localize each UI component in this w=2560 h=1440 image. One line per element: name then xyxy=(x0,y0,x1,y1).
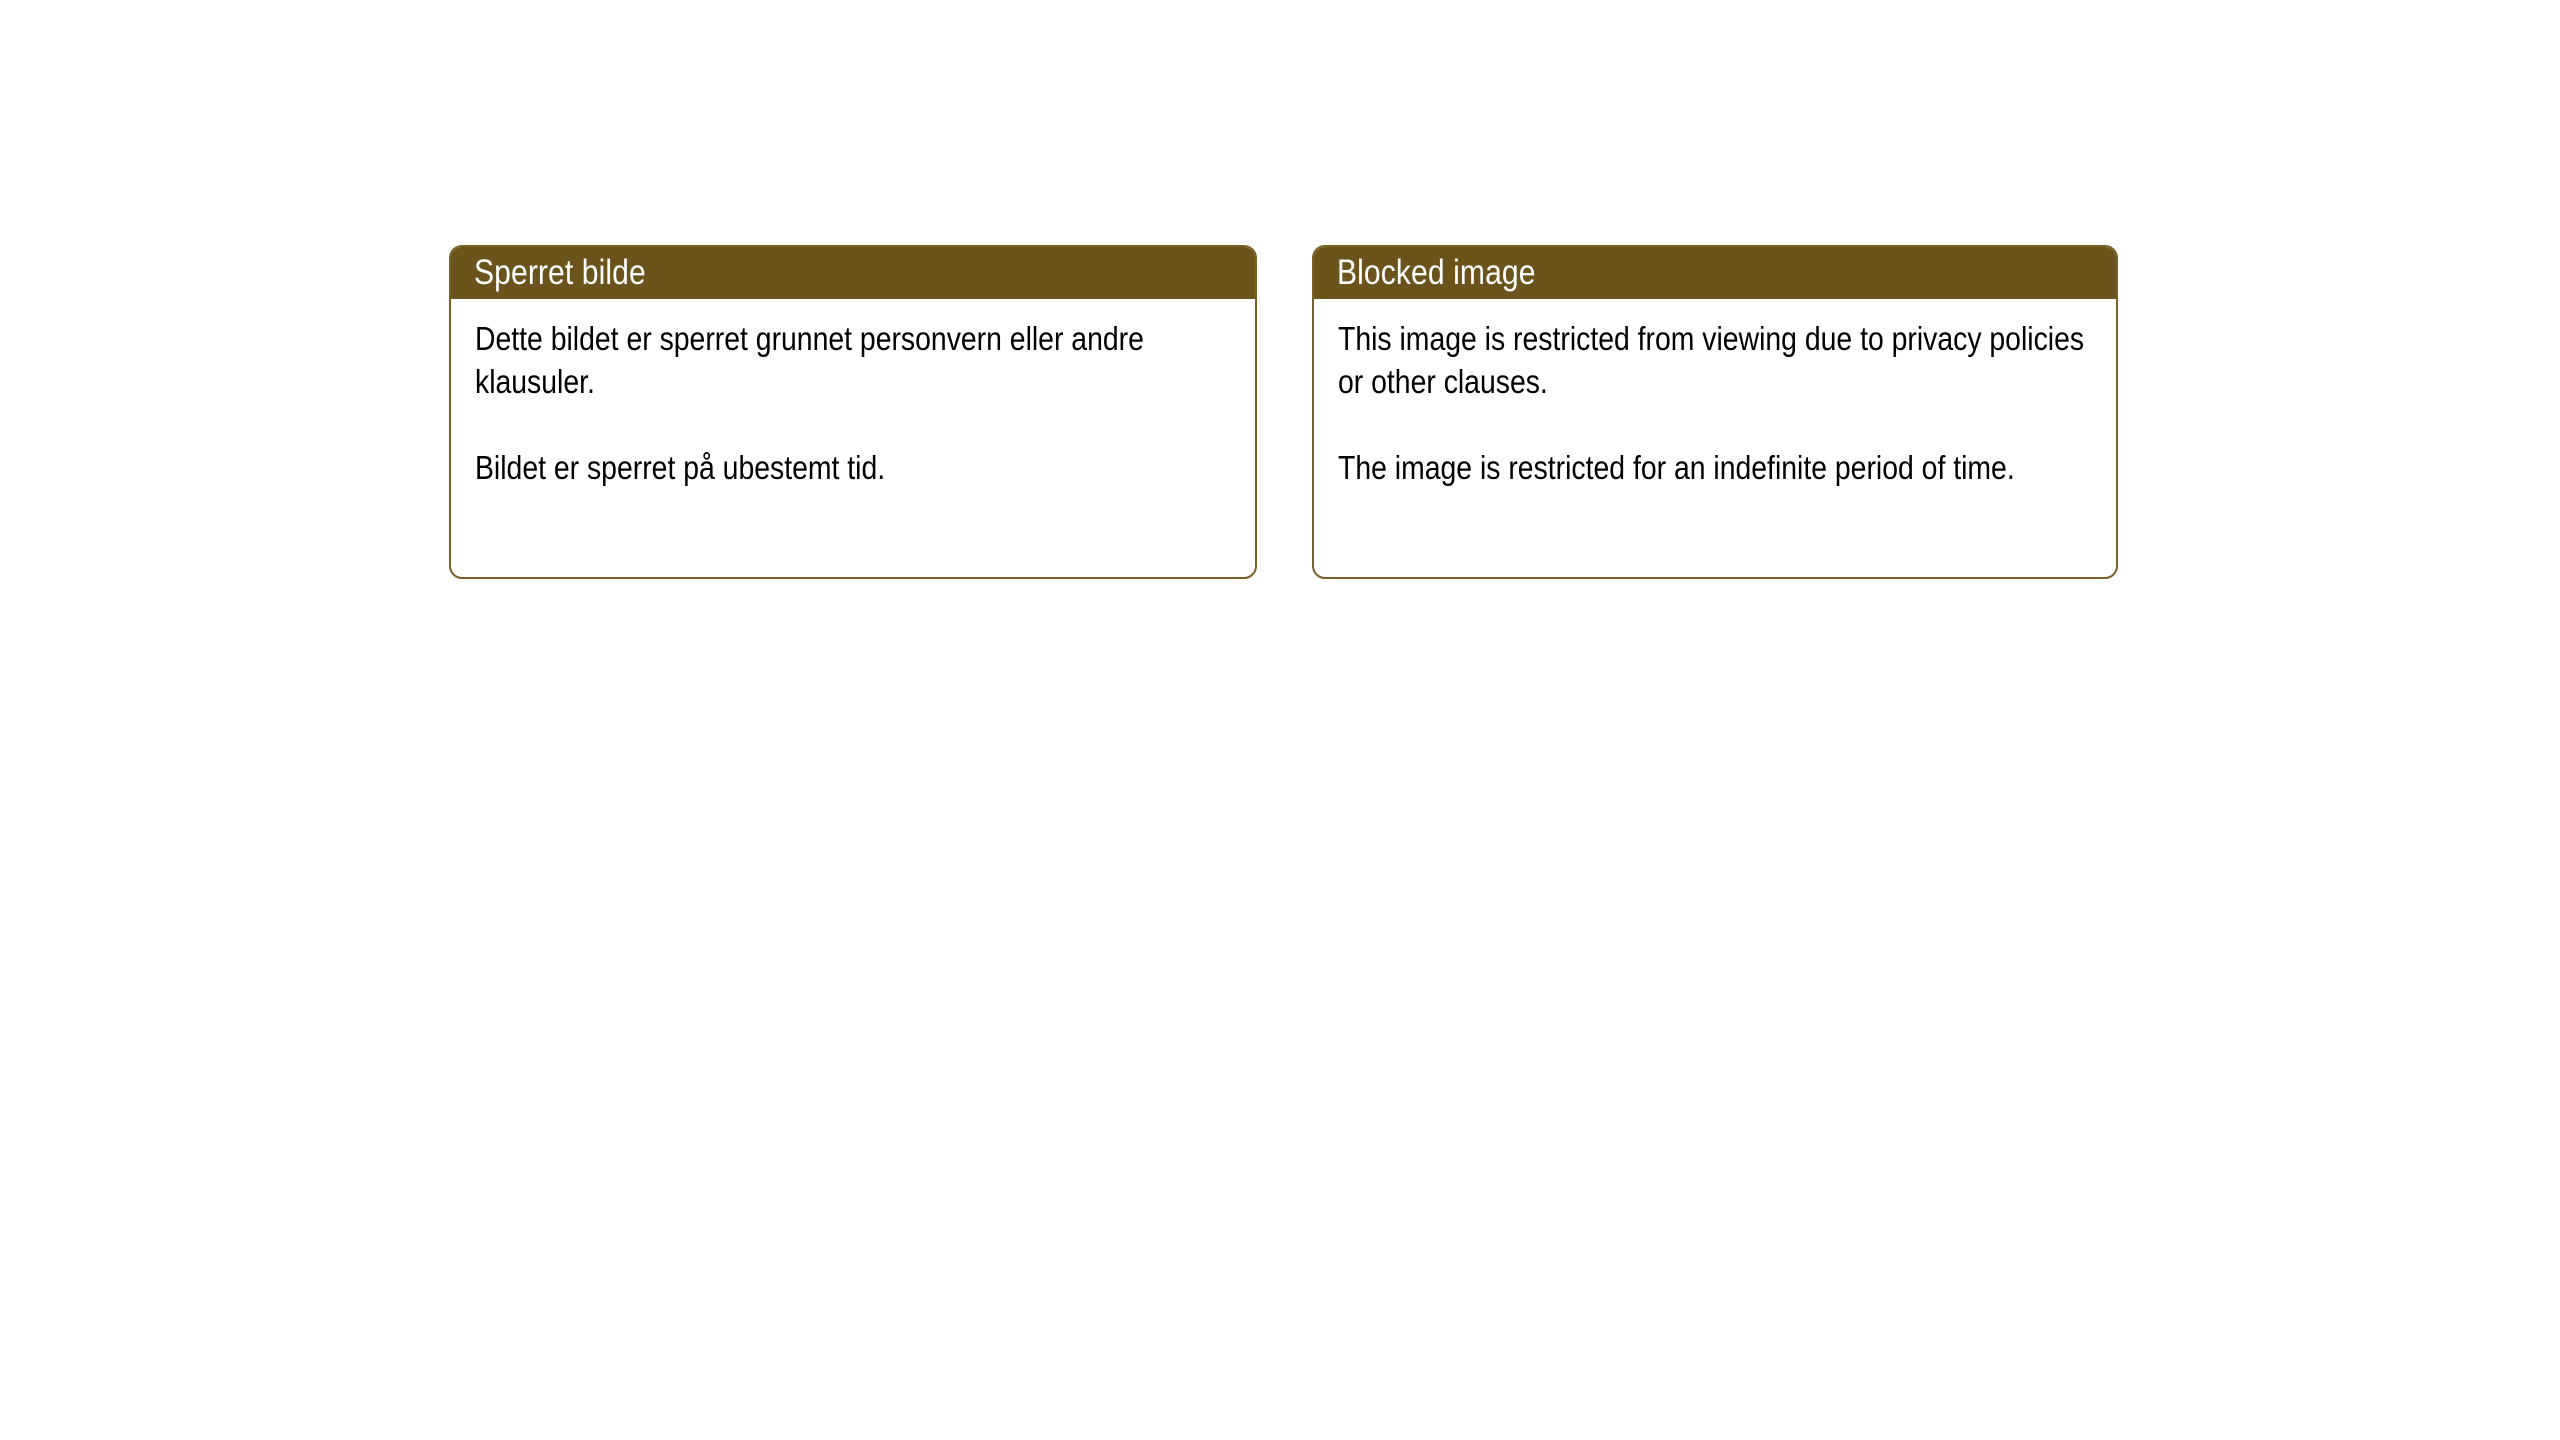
card-title-english: Blocked image xyxy=(1337,255,1536,290)
card-title-norwegian: Sperret bilde xyxy=(474,255,646,290)
card-header-english: Blocked image xyxy=(1313,246,2117,299)
card-header-norwegian: Sperret bilde xyxy=(450,246,1256,299)
page-root: Sperret bilde Dette bildet er sperret gr… xyxy=(0,0,2560,1440)
card-paragraph-reason-english: This image is restricted from viewing du… xyxy=(1338,317,2092,403)
card-paragraph-duration-english: The image is restricted for an indefinit… xyxy=(1338,446,2092,489)
card-paragraph-duration-norwegian: Bildet er sperret på ubestemt tid. xyxy=(475,446,1231,489)
blocked-image-card-norwegian: Sperret bilde Dette bildet er sperret gr… xyxy=(449,245,1257,579)
card-paragraph-reason-norwegian: Dette bildet er sperret grunnet personve… xyxy=(475,317,1231,403)
card-body-english: This image is restricted from viewing du… xyxy=(1314,299,2116,505)
blocked-image-card-english: Blocked image This image is restricted f… xyxy=(1312,245,2118,579)
card-body-norwegian: Dette bildet er sperret grunnet personve… xyxy=(451,299,1255,505)
